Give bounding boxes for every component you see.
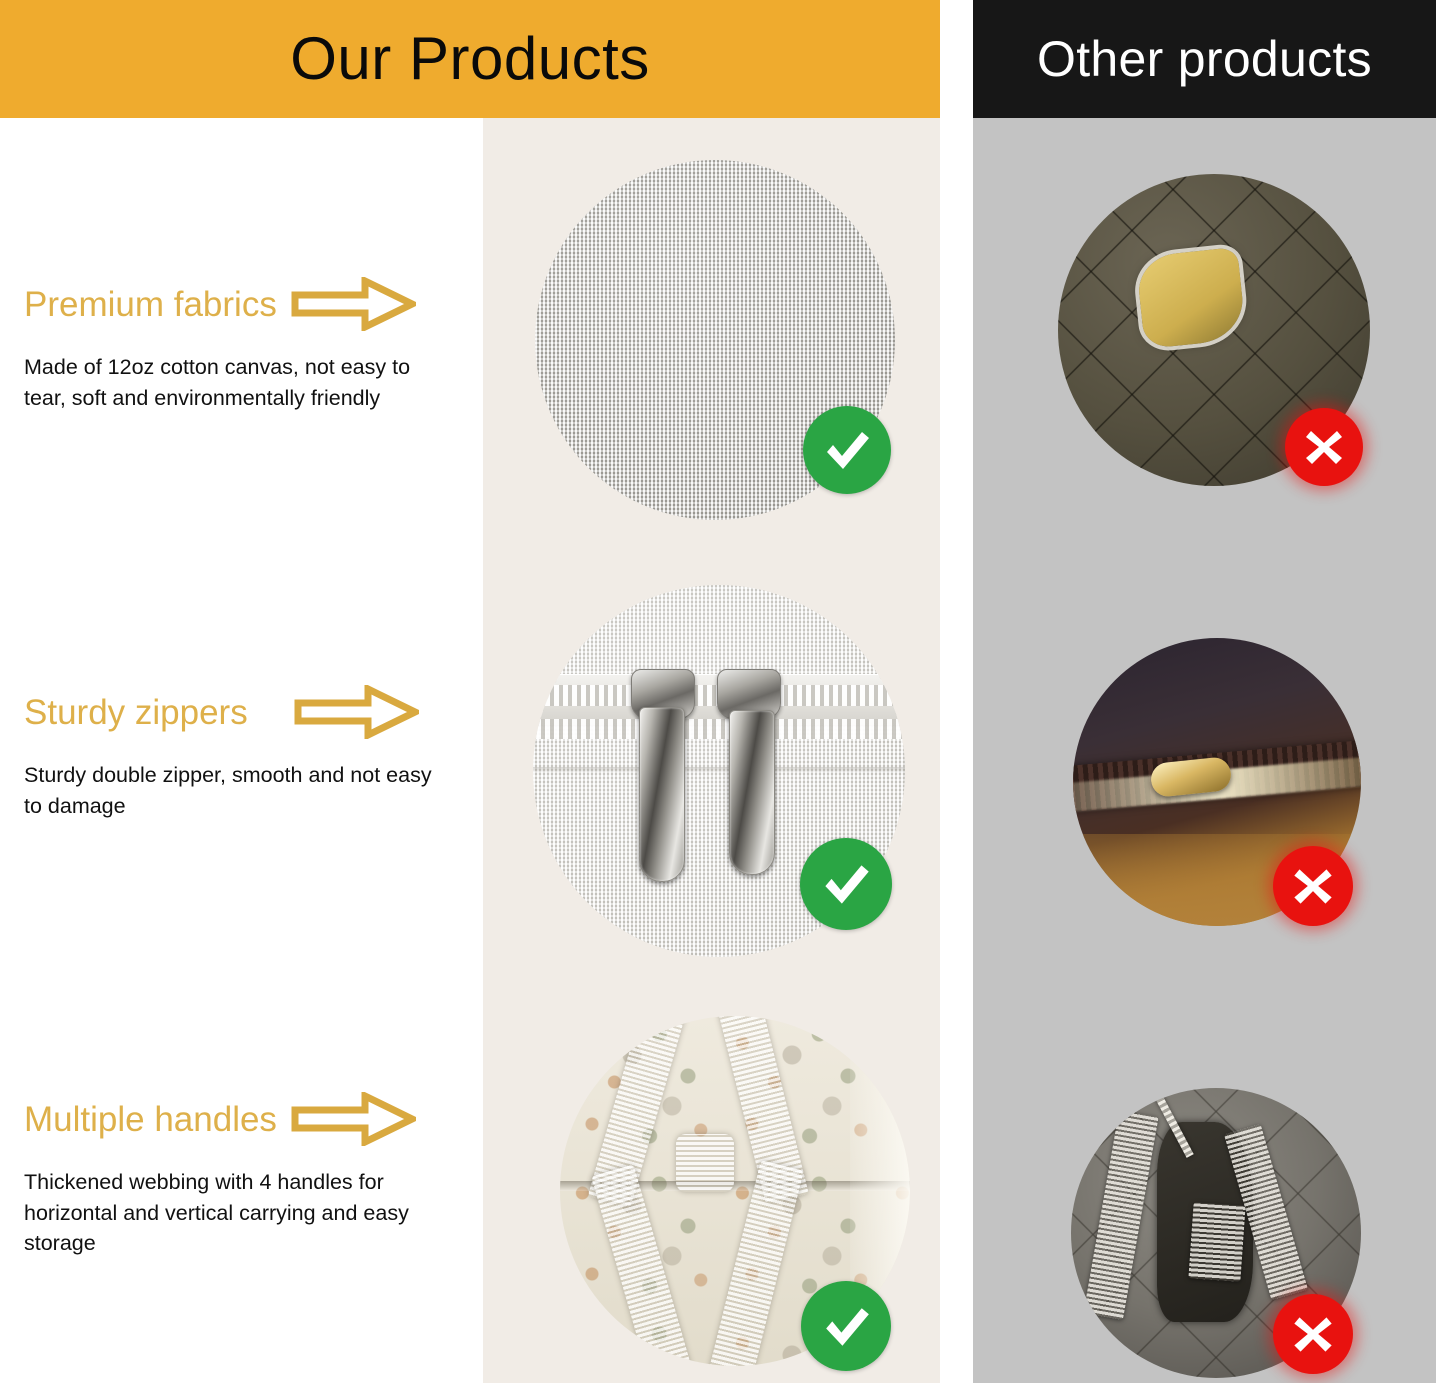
our-products-title: Our Products [290, 29, 649, 89]
right-arrow-icon [291, 277, 416, 331]
red-cross-icon-zipper [1273, 846, 1353, 926]
feature-multiple-handles-title: Multiple handles [24, 1102, 277, 1137]
zipper-pull-right [729, 710, 775, 875]
feature-premium-fabrics: Premium fabrics Made of 12oz cotton canv… [24, 278, 474, 413]
red-cross-icon-handle [1273, 1294, 1353, 1374]
other-products-panel: Other products [973, 0, 1436, 1383]
webbing-cross-center [676, 1134, 734, 1192]
zipper-pull-left [639, 707, 685, 882]
feature-sturdy-zippers-body: Sturdy double zipper, smooth and not eas… [24, 760, 444, 821]
other-products-title: Other products [1037, 34, 1372, 84]
feature-sturdy-zippers: Sturdy zippers Sturdy double zipper, smo… [24, 686, 474, 821]
other-products-header: Other products [973, 0, 1436, 118]
red-cross-icon-fabric [1285, 408, 1363, 486]
green-check-icon-handles [801, 1281, 891, 1371]
zipper-teeth-bottom [533, 719, 905, 739]
our-products-header: Our Products [0, 0, 940, 118]
strap-buckle [1188, 1202, 1245, 1281]
our-products-panel: Our Products Premium fabrics Made of 12o… [0, 0, 940, 1383]
feature-multiple-handles-body: Thickened webbing with 4 handles for hor… [24, 1167, 444, 1259]
right-arrow-icon [291, 1092, 416, 1146]
feature-premium-fabrics-body: Made of 12oz cotton canvas, not easy to … [24, 352, 444, 413]
right-arrow-icon [294, 685, 419, 739]
feature-sturdy-zippers-title: Sturdy zippers [24, 695, 248, 730]
green-check-icon-fabrics [803, 406, 891, 494]
feature-multiple-handles: Multiple handles Thickened webbing with … [24, 1093, 474, 1259]
feature-sturdy-zippers-heading: Sturdy zippers [24, 686, 474, 738]
product-comparison-infographic: Our Products Premium fabrics Made of 12o… [0, 0, 1436, 1383]
feature-premium-fabrics-heading: Premium fabrics [24, 278, 474, 330]
green-check-icon-zippers [800, 838, 892, 930]
fabric-seam [533, 767, 905, 773]
feature-multiple-handles-heading: Multiple handles [24, 1093, 474, 1145]
feature-premium-fabrics-title: Premium fabrics [24, 287, 277, 322]
